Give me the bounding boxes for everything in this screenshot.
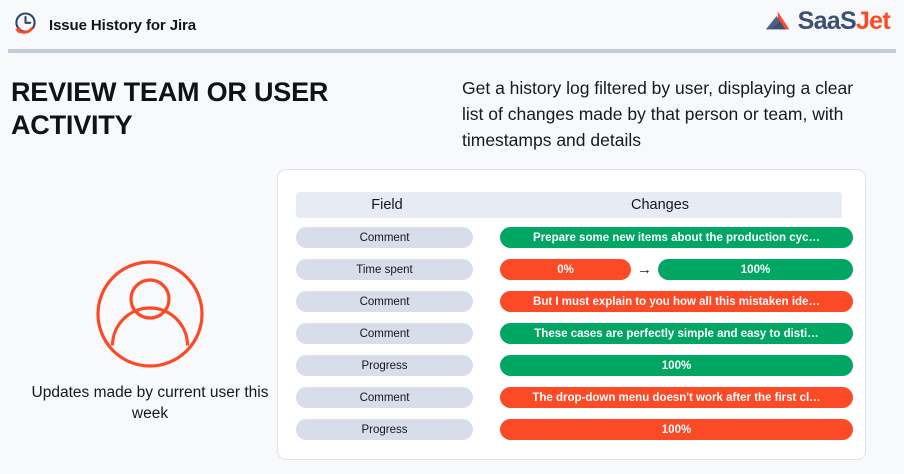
change-pill: 100% <box>500 355 853 376</box>
table-row[interactable]: CommentThe drop-down menu doesn't work a… <box>296 387 849 408</box>
table-header-row: Field Changes <box>296 192 842 218</box>
field-pill: Progress <box>296 355 473 376</box>
saasjet-wordmark: SaaSJet <box>798 9 890 34</box>
table-row[interactable]: CommentBut I must explain to you how all… <box>296 291 849 312</box>
logo-text-saas: SaaS <box>798 7 856 35</box>
changes-cell: 100% <box>500 419 853 440</box>
page-title: REVIEW TEAM OR USER ACTIVITY <box>11 76 431 142</box>
column-header-field: Field <box>296 197 478 213</box>
header-divider <box>8 49 896 53</box>
table-row[interactable]: Progress100% <box>296 355 849 376</box>
table-row[interactable]: CommentPrepare some new items about the … <box>296 227 849 248</box>
changes-cell: These cases are perfectly simple and eas… <box>500 323 853 344</box>
page-description: Get a history log filtered by user, disp… <box>462 76 862 154</box>
app-header: Issue History for Jira SaaSJet <box>0 0 904 50</box>
table-row[interactable]: CommentThese cases are perfectly simple … <box>296 323 849 344</box>
changes-cell: The drop-down menu doesn't work after th… <box>500 387 853 408</box>
change-pill: Prepare some new items about the product… <box>500 227 853 248</box>
arrow-right-icon: → <box>631 262 658 277</box>
field-pill: Comment <box>296 291 473 312</box>
current-user-panel: Updates made by current user this week <box>30 258 270 425</box>
jet-triangle-icon <box>764 10 792 34</box>
change-pill: These cases are perfectly simple and eas… <box>500 323 853 344</box>
field-pill: Time spent <box>296 259 473 280</box>
saasjet-logo: SaaSJet <box>764 9 890 34</box>
app-title: Issue History for Jira <box>49 17 196 34</box>
table-row[interactable]: Time spent0%→100% <box>296 259 849 280</box>
change-pill: The drop-down menu doesn't work after th… <box>500 387 853 408</box>
field-pill: Comment <box>296 227 473 248</box>
field-pill: Comment <box>296 387 473 408</box>
changes-cell: But I must explain to you how all this m… <box>500 291 853 312</box>
change-pill: 0% <box>500 259 631 280</box>
field-pill: Progress <box>296 419 473 440</box>
app-brand: Issue History for Jira <box>10 10 196 40</box>
user-avatar-icon <box>94 258 206 370</box>
column-header-changes: Changes <box>478 197 842 213</box>
change-pill: But I must explain to you how all this m… <box>500 291 853 312</box>
history-clock-icon <box>10 10 40 40</box>
history-log-card: Field Changes CommentPrepare some new it… <box>277 169 866 460</box>
logo-text-jet: Jet <box>856 7 890 35</box>
change-pill: 100% <box>658 259 853 280</box>
changes-cell: Prepare some new items about the product… <box>500 227 853 248</box>
changes-cell: 0%→100% <box>500 259 853 280</box>
field-pill: Comment <box>296 323 473 344</box>
user-panel-caption: Updates made by current user this week <box>30 382 270 425</box>
table-row[interactable]: Progress100% <box>296 419 849 440</box>
history-rows: CommentPrepare some new items about the … <box>296 227 849 440</box>
changes-cell: 100% <box>500 355 853 376</box>
change-pill: 100% <box>500 419 853 440</box>
